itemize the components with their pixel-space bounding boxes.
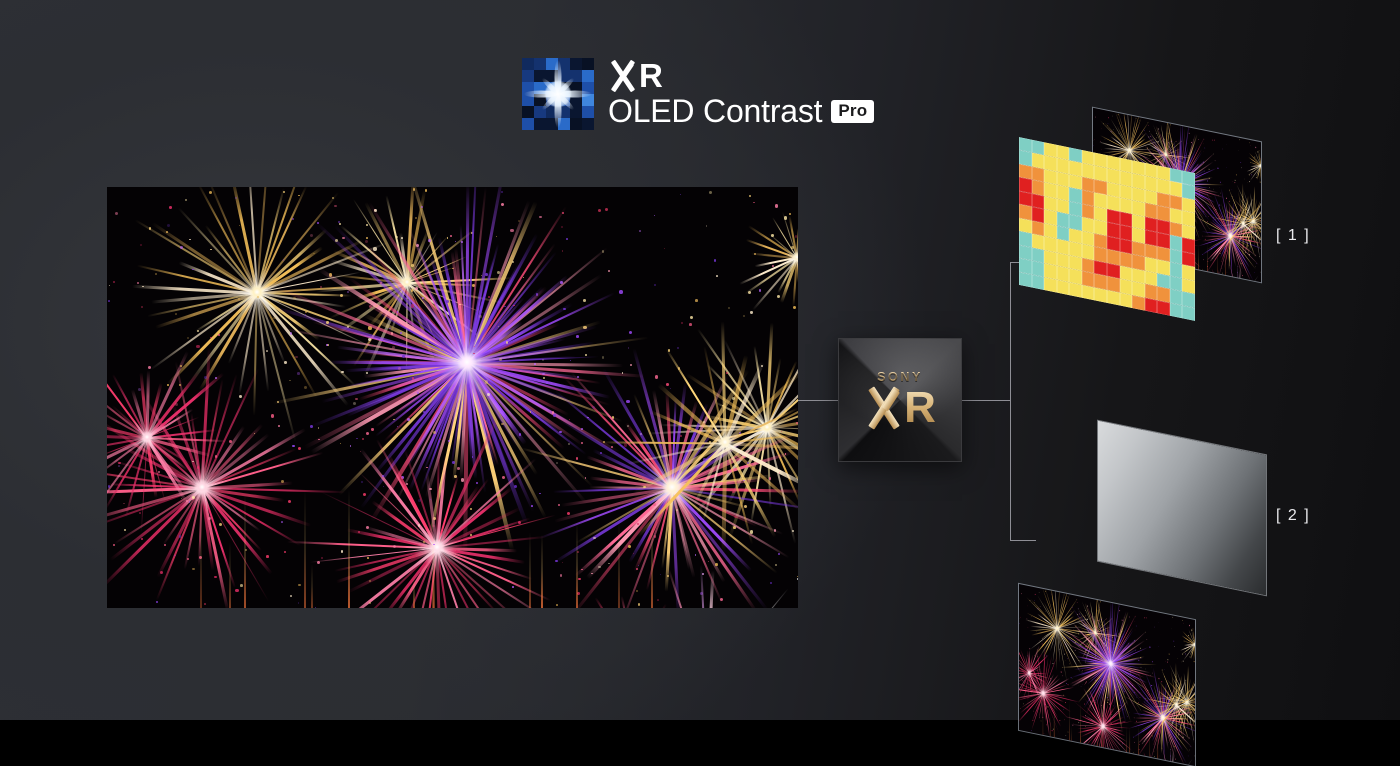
logo-xr-r: R — [639, 59, 663, 93]
connector-hero-to-chip — [798, 400, 838, 401]
chip-brand-label: SONY — [877, 370, 923, 384]
branch-2-front-fireworks-panel — [1019, 584, 1195, 766]
heatmap-cell — [1107, 290, 1120, 306]
chip-x-glyph-icon — [864, 387, 904, 429]
heatmap-cell — [1057, 279, 1070, 295]
heatmap-cell — [1032, 274, 1045, 290]
chip-model-r: R — [904, 386, 936, 430]
heatmap-cell — [1044, 277, 1057, 293]
connector-to-branch-2 — [1010, 540, 1036, 541]
heatmap-cell — [1120, 292, 1133, 308]
reference-marker-2: [ 2 ] — [1276, 507, 1310, 525]
heatmap-cell — [1069, 282, 1082, 298]
connector-vertical-split — [1010, 262, 1011, 540]
reference-marker-1: [ 1 ] — [1276, 227, 1310, 245]
logo-line-xr: R — [608, 59, 874, 93]
heatmap-cell — [1182, 305, 1195, 321]
xr-oled-contrast-pro-diagram: R OLED Contrast Pro SONY R — [0, 0, 1400, 720]
branch-2-back-grayscale-panel — [1098, 421, 1266, 595]
chip-model-label: R — [864, 386, 936, 430]
hero-fireworks-image — [107, 187, 798, 608]
heatmap-cell — [1082, 284, 1095, 300]
heatmap-cell — [1019, 271, 1032, 287]
pro-badge: Pro — [831, 100, 874, 123]
xr-oled-contrast-pro-logo: R OLED Contrast Pro — [522, 58, 874, 130]
xr-star-burst-icon — [522, 58, 594, 130]
xr-x-glyph-icon — [608, 60, 638, 92]
heatmap-cell — [1145, 297, 1158, 313]
heatmap-cell — [1157, 300, 1170, 316]
logo-text-block: R OLED Contrast Pro — [608, 59, 874, 128]
connector-chip-to-split — [962, 400, 1010, 401]
heatmap-cell — [1132, 295, 1145, 311]
sony-xr-processor-chip: SONY R — [838, 338, 962, 462]
logo-product-name: OLED Contrast — [608, 94, 822, 129]
heatmap-cell — [1170, 302, 1183, 318]
heatmap-cell — [1094, 287, 1107, 303]
